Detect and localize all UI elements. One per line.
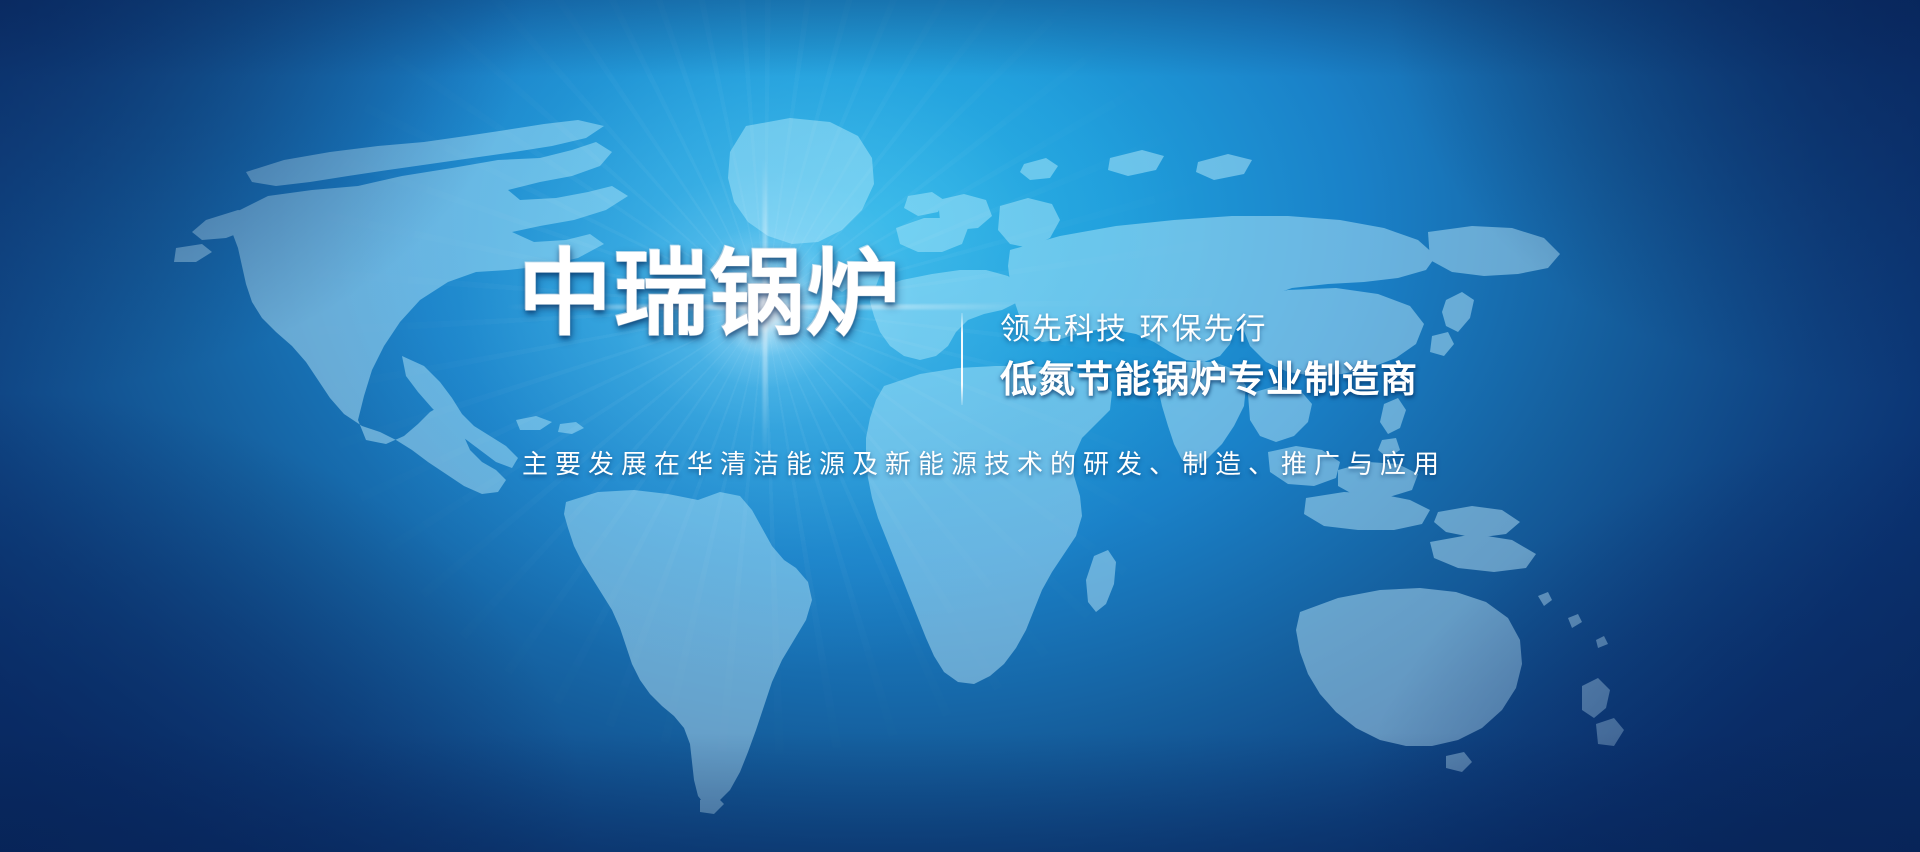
hero-banner: 中瑞锅炉 领先科技 环保先行 低氮节能锅炉专业制造商 主要发展在华清洁能源及新能… bbox=[0, 0, 1920, 852]
vertical-divider bbox=[961, 313, 963, 405]
banner-description: 主要发展在华清洁能源及新能源技术的研发、制造、推广与应用 bbox=[522, 450, 1446, 481]
slogan-secondary: 低氮节能锅炉专业制造商 bbox=[1000, 358, 1418, 402]
company-logo-title: 中瑞锅炉 bbox=[518, 248, 902, 342]
slogan-primary: 领先科技 环保先行 bbox=[1000, 312, 1268, 348]
banner-content: 中瑞锅炉 领先科技 环保先行 低氮节能锅炉专业制造商 主要发展在华清洁能源及新能… bbox=[0, 0, 1920, 852]
